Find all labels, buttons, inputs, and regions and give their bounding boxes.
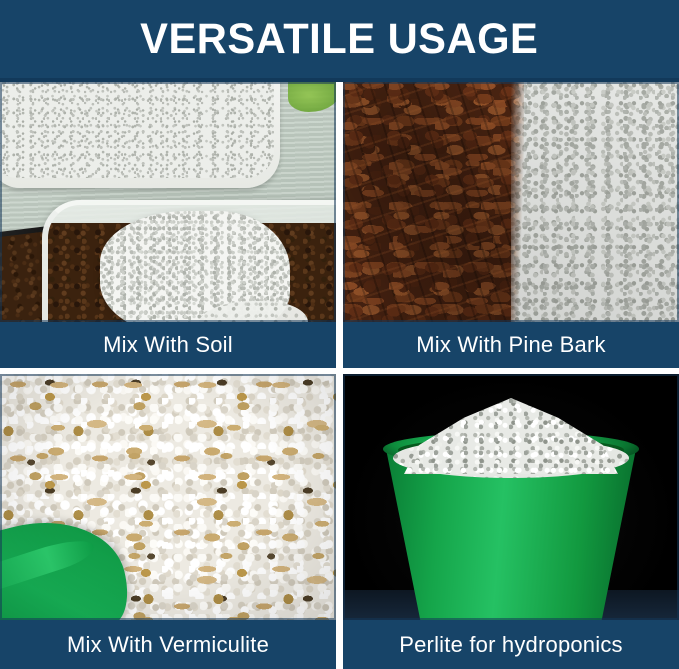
caption-label: Mix With Soil	[103, 334, 233, 356]
photo-mix-with-soil	[0, 82, 336, 322]
perlite-fill-texture	[0, 82, 274, 178]
caption-bar-mix-with-soil: Mix With Soil	[0, 322, 336, 368]
caption-label: Mix With Vermiculite	[67, 634, 269, 656]
photo-perlite-for-hydroponics	[343, 374, 679, 620]
photo-mix-with-pine-bark	[343, 82, 679, 322]
panel-perlite-for-hydroponics: Perlite for hydroponics	[343, 374, 679, 669]
caption-bar-mix-with-vermiculite: Mix With Vermiculite	[0, 620, 336, 669]
caption-bar-mix-with-pine-bark: Mix With Pine Bark	[343, 322, 679, 368]
versatile-usage-infographic: VERSATILE USAGE Mix With Soil	[0, 0, 679, 669]
upper-perlite-bin	[0, 82, 280, 188]
caption-bar-perlite-for-hydroponics: Perlite for hydroponics	[343, 620, 679, 669]
photo-vignette-overlay	[0, 374, 336, 620]
panel-mix-with-pine-bark: Mix With Pine Bark	[343, 82, 679, 368]
caption-label: Perlite for hydroponics	[399, 634, 622, 656]
header-band: VERSATILE USAGE	[0, 0, 679, 78]
panel-mix-with-soil: Mix With Soil	[0, 82, 336, 368]
page-title: VERSATILE USAGE	[140, 18, 538, 61]
photo-mix-with-vermiculite	[0, 374, 336, 620]
panel-mix-with-vermiculite: Mix With Vermiculite	[0, 374, 336, 669]
clear-mixing-tub	[42, 200, 336, 322]
caption-label: Mix With Pine Bark	[416, 334, 605, 356]
photo-shading-overlay	[343, 82, 679, 322]
